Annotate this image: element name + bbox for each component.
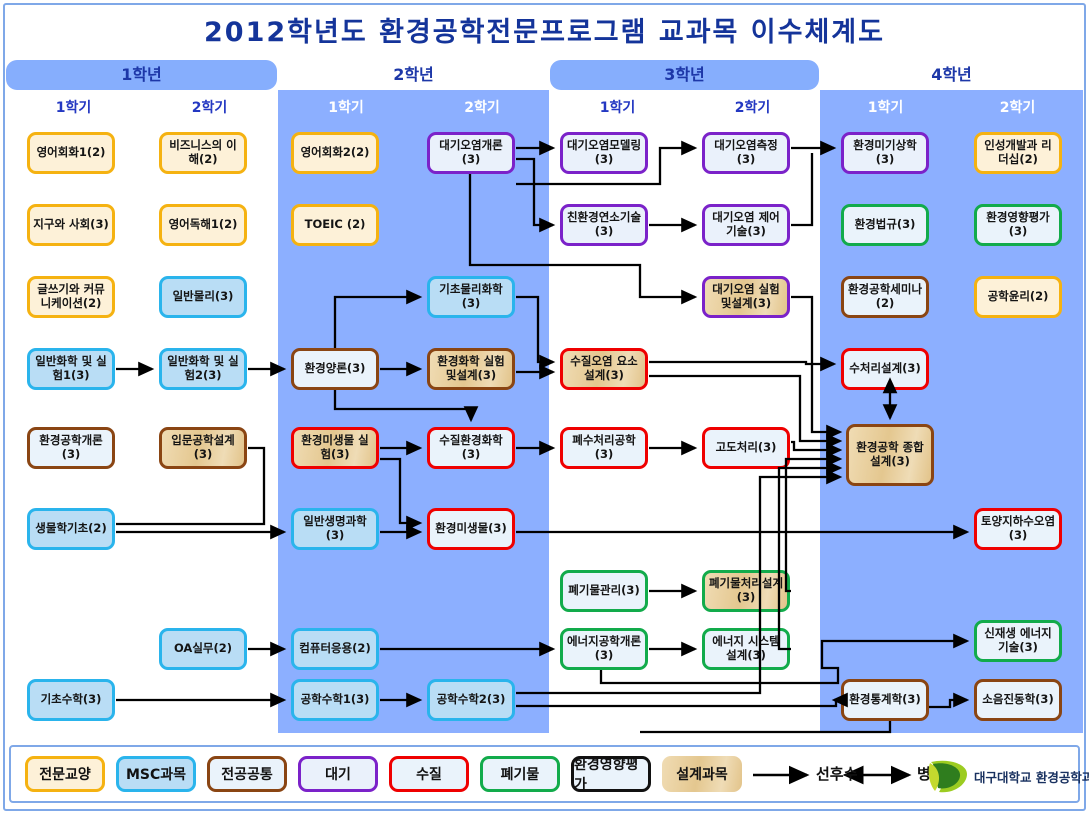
course-box-y1s2e[interactable]: 입문공학설계(3) [159, 427, 247, 469]
course-box-y1s1g[interactable]: 기초수학(3) [27, 679, 115, 721]
year-header-2: 2학년 [278, 60, 549, 90]
course-box-y4s2d[interactable]: 토양지하수오염(3) [974, 508, 1062, 550]
legend-chip-6[interactable]: 폐기물 [480, 756, 560, 792]
semester-header-3: 1학기 [278, 96, 414, 120]
course-box-y4s1a[interactable]: 환경미기상학(3) [841, 132, 929, 174]
course-box-y4s1e[interactable]: 환경공학 종합설계(3) [846, 424, 934, 486]
page-title: 2012학년도 환경공학전문프로그램 교과목 이수체계도 [0, 10, 1089, 49]
curriculum-flowchart-page: 2012학년도 환경공학전문프로그램 교과목 이수체계도 1학년2학년3학년4학… [0, 0, 1089, 814]
semester-header-7: 1학기 [820, 96, 951, 120]
legend-chip-7[interactable]: 환경영향평가 [571, 756, 651, 792]
course-box-y3s1a[interactable]: 대기오염모델링(3) [560, 132, 648, 174]
legend-chip-8[interactable]: 설계과목 [662, 756, 742, 792]
course-box-y4s2e[interactable]: 신재생 에너지기술(3) [974, 620, 1062, 662]
semester-header-6: 2학기 [686, 96, 819, 120]
course-box-y2s1g[interactable]: 공학수학1(3) [291, 679, 379, 721]
semester-header-1: 1학기 [6, 96, 141, 120]
semester-header-4: 2학기 [415, 96, 549, 120]
course-box-y1s2d[interactable]: 일반화학 및 실험2(3) [159, 348, 247, 390]
course-box-y2s2e[interactable]: 환경미생물(3) [427, 508, 515, 550]
course-box-y1s1f[interactable]: 생물학기초(2) [27, 508, 115, 550]
course-box-y4s1b[interactable]: 환경법규(3) [841, 204, 929, 246]
course-box-y2s1e[interactable]: 일반생명과학(3) [291, 508, 379, 550]
course-box-y2s1b[interactable]: TOEIC (2) [291, 204, 379, 246]
course-box-y1s1c[interactable]: 글쓰기와 커뮤니케이션(2) [27, 276, 115, 318]
course-box-y1s2b[interactable]: 영어독해1(2) [159, 204, 247, 246]
course-box-y3s2f[interactable]: 에너지 시스템설계(3) [702, 628, 790, 670]
semester-header-5: 1학기 [550, 96, 685, 120]
prereq-label: 선후수 [816, 756, 857, 792]
course-box-y3s2a[interactable]: 대기오염측정(3) [702, 132, 790, 174]
legend-chip-2[interactable]: MSC과목 [116, 756, 196, 792]
year-header-4: 4학년 [820, 60, 1083, 90]
course-box-y2s1f[interactable]: 컴퓨터응용(2) [291, 628, 379, 670]
course-box-y1s1d[interactable]: 일반화학 및 실험1(3) [27, 348, 115, 390]
course-box-y1s1b[interactable]: 지구와 사회(3) [27, 204, 115, 246]
course-box-y4s2c[interactable]: 공학윤리(2) [974, 276, 1062, 318]
legend-chip-5[interactable]: 수질 [389, 756, 469, 792]
course-box-y1s2a[interactable]: 비즈니스의 이해(2) [159, 132, 247, 174]
semester-header-8: 2학기 [952, 96, 1083, 120]
logo-text: 대구대학교 환경공학과 [974, 767, 1089, 786]
semester-header-2: 2학기 [142, 96, 277, 120]
year-header-3: 3학년 [550, 60, 819, 90]
course-box-y3s1d[interactable]: 폐수처리공학(3) [560, 427, 648, 469]
course-box-y3s2d[interactable]: 고도처리(3) [702, 427, 790, 469]
course-box-y3s1c[interactable]: 수질오염 요소설계(3) [560, 348, 648, 390]
course-box-y2s2a[interactable]: 대기오염개론(3) [427, 132, 515, 174]
course-box-y3s1e[interactable]: 폐기물관리(3) [560, 570, 648, 612]
course-box-y4s1f[interactable]: 환경통계학(3) [841, 679, 929, 721]
course-box-y4s2f[interactable]: 소음진동학(3) [974, 679, 1062, 721]
course-box-y3s2c[interactable]: 대기오염 실험및설계(3) [702, 276, 790, 318]
course-box-y4s2a[interactable]: 인성개발과 리더십(2) [974, 132, 1062, 174]
legend-panel: 전문교양MSC과목전공공통대기수질폐기물환경영향평가설계과목 선후수 병수 [9, 745, 1080, 803]
course-box-y1s2c[interactable]: 일반물리(3) [159, 276, 247, 318]
university-logo: 대구대학교 환경공학과 [927, 757, 1089, 795]
course-box-y3s2e[interactable]: 폐기물처리설계(3) [702, 570, 790, 612]
legend-chip-4[interactable]: 대기 [298, 756, 378, 792]
course-box-y2s1c[interactable]: 환경양론(3) [291, 348, 379, 390]
daegu-univ-leaf-icon [927, 758, 971, 794]
legend-chip-3[interactable]: 전공공통 [207, 756, 287, 792]
course-box-y1s1e[interactable]: 환경공학개론(3) [27, 427, 115, 469]
year-header-1: 1학년 [6, 60, 277, 90]
course-box-y2s2c[interactable]: 환경화학 실험및설계(3) [427, 348, 515, 390]
course-box-y1s2f[interactable]: OA실무(2) [159, 628, 247, 670]
course-box-y3s1b[interactable]: 친환경연소기술(3) [560, 204, 648, 246]
course-box-y4s2b[interactable]: 환경영향평가(3) [974, 204, 1062, 246]
course-box-y2s2b[interactable]: 기초물리화학(3) [427, 276, 515, 318]
course-box-y2s1d[interactable]: 환경미생물 실험(3) [291, 427, 379, 469]
course-box-y4s1d[interactable]: 수처리설계(3) [841, 348, 929, 390]
course-box-y2s2f[interactable]: 공학수학2(3) [427, 679, 515, 721]
course-box-y4s1c[interactable]: 환경공학세미나(2) [841, 276, 929, 318]
course-box-y3s2b[interactable]: 대기오염 제어기술(3) [702, 204, 790, 246]
course-box-y2s1a[interactable]: 영어회화2(2) [291, 132, 379, 174]
legend-chip-1[interactable]: 전문교양 [25, 756, 105, 792]
course-box-y2s2d[interactable]: 수질환경화학(3) [427, 427, 515, 469]
course-box-y3s1f[interactable]: 에너지공학개론(3) [560, 628, 648, 670]
course-box-y1s1a[interactable]: 영어회화1(2) [27, 132, 115, 174]
